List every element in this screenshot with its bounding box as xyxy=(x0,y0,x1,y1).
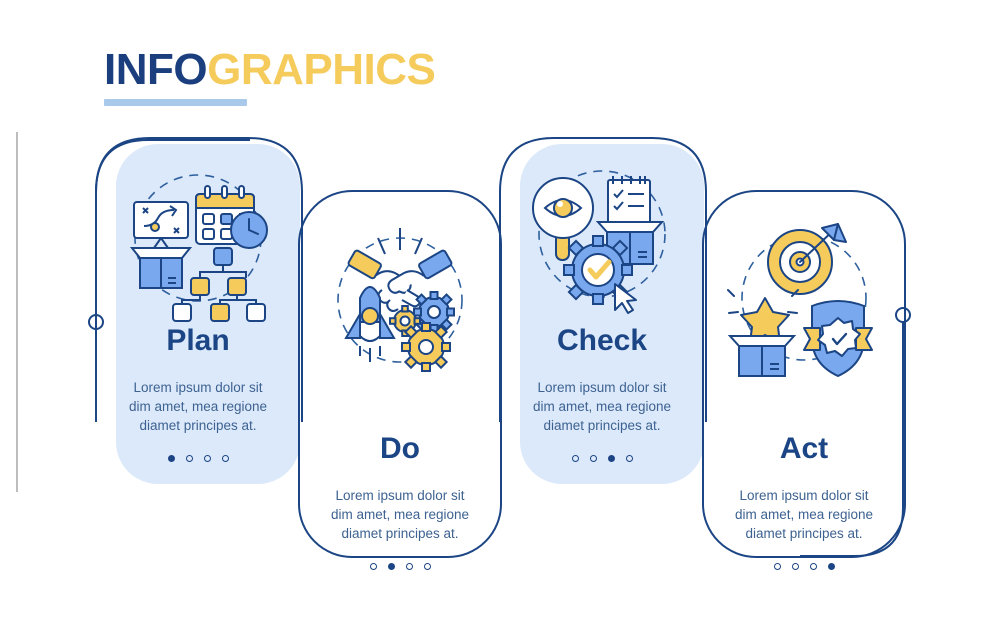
icon-group-act xyxy=(716,220,892,384)
dot-1[interactable] xyxy=(370,563,377,570)
dot-2[interactable] xyxy=(388,563,395,570)
dot-2[interactable] xyxy=(590,455,597,462)
dot-3[interactable] xyxy=(810,563,817,570)
icon-group-check xyxy=(514,160,690,324)
star-box-icon xyxy=(728,290,798,376)
pagination-dots-plan[interactable] xyxy=(96,455,300,462)
dot-4[interactable] xyxy=(626,455,633,462)
pagination-dots-act[interactable] xyxy=(702,563,906,570)
watermark-rule xyxy=(16,132,18,492)
dot-3[interactable] xyxy=(406,563,413,570)
icon-group-do xyxy=(312,220,488,384)
card-heading-plan: Plan xyxy=(96,326,300,356)
title-primary: INFO xyxy=(104,45,207,94)
dot-1[interactable] xyxy=(572,455,579,462)
title-text: INFOGRAPHICS xyxy=(104,48,435,92)
card-body-plan: Plan Lorem ipsum dolor sit dim amet, mea… xyxy=(96,326,300,462)
step-card-act[interactable]: Act Lorem ipsum dolor sit dim amet, mea … xyxy=(702,190,906,558)
card-description-plan: Lorem ipsum dolor sit dim amet, mea regi… xyxy=(96,378,300,435)
card-body-act: Act Lorem ipsum dolor sit dim amet, mea … xyxy=(702,434,906,570)
dot-3[interactable] xyxy=(608,455,615,462)
card-body-check: Check Lorem ipsum dolor sit dim amet, me… xyxy=(500,326,704,462)
dot-3[interactable] xyxy=(204,455,211,462)
pagination-dots-do[interactable] xyxy=(298,563,502,570)
card-heading-act: Act xyxy=(702,434,906,464)
dot-4[interactable] xyxy=(222,455,229,462)
card-heading-check: Check xyxy=(500,326,704,356)
gear-check-cursor-icon xyxy=(564,236,636,313)
shield-badge-icon xyxy=(804,301,872,376)
title-underline xyxy=(104,99,247,106)
card-body-do: Do Lorem ipsum dolor sit dim amet, mea r… xyxy=(298,434,502,570)
card-description-do: Lorem ipsum dolor sit dim amet, mea regi… xyxy=(298,486,502,543)
card-description-check: Lorem ipsum dolor sit dim amet, mea regi… xyxy=(500,378,704,435)
gears-icon xyxy=(390,292,454,371)
target-arrow-icon xyxy=(768,224,846,294)
infographic-canvas: #814451033 INFOGRAPHICS xyxy=(0,0,1000,623)
page-title: INFOGRAPHICS xyxy=(104,48,435,106)
pagination-dots-check[interactable] xyxy=(500,455,704,462)
title-secondary: GRAPHICS xyxy=(207,45,435,94)
dot-2[interactable] xyxy=(792,563,799,570)
strategy-board-icon xyxy=(134,202,188,248)
clock-icon xyxy=(231,212,267,248)
flowchart-icon xyxy=(173,248,265,321)
step-card-check[interactable]: Check Lorem ipsum dolor sit dim amet, me… xyxy=(500,138,704,420)
dot-1[interactable] xyxy=(774,563,781,570)
dot-2[interactable] xyxy=(186,455,193,462)
watermark-id: #814451033 xyxy=(0,264,1,352)
open-box-icon xyxy=(132,248,190,288)
dot-1[interactable] xyxy=(168,455,175,462)
card-description-act: Lorem ipsum dolor sit dim amet, mea regi… xyxy=(702,486,906,543)
dot-4[interactable] xyxy=(828,563,835,570)
card-heading-do: Do xyxy=(298,434,502,464)
step-card-plan[interactable]: Plan Lorem ipsum dolor sit dim amet, mea… xyxy=(96,138,300,420)
step-card-do[interactable]: Do Lorem ipsum dolor sit dim amet, mea r… xyxy=(298,190,502,558)
icon-group-plan xyxy=(110,160,286,324)
dot-4[interactable] xyxy=(424,563,431,570)
